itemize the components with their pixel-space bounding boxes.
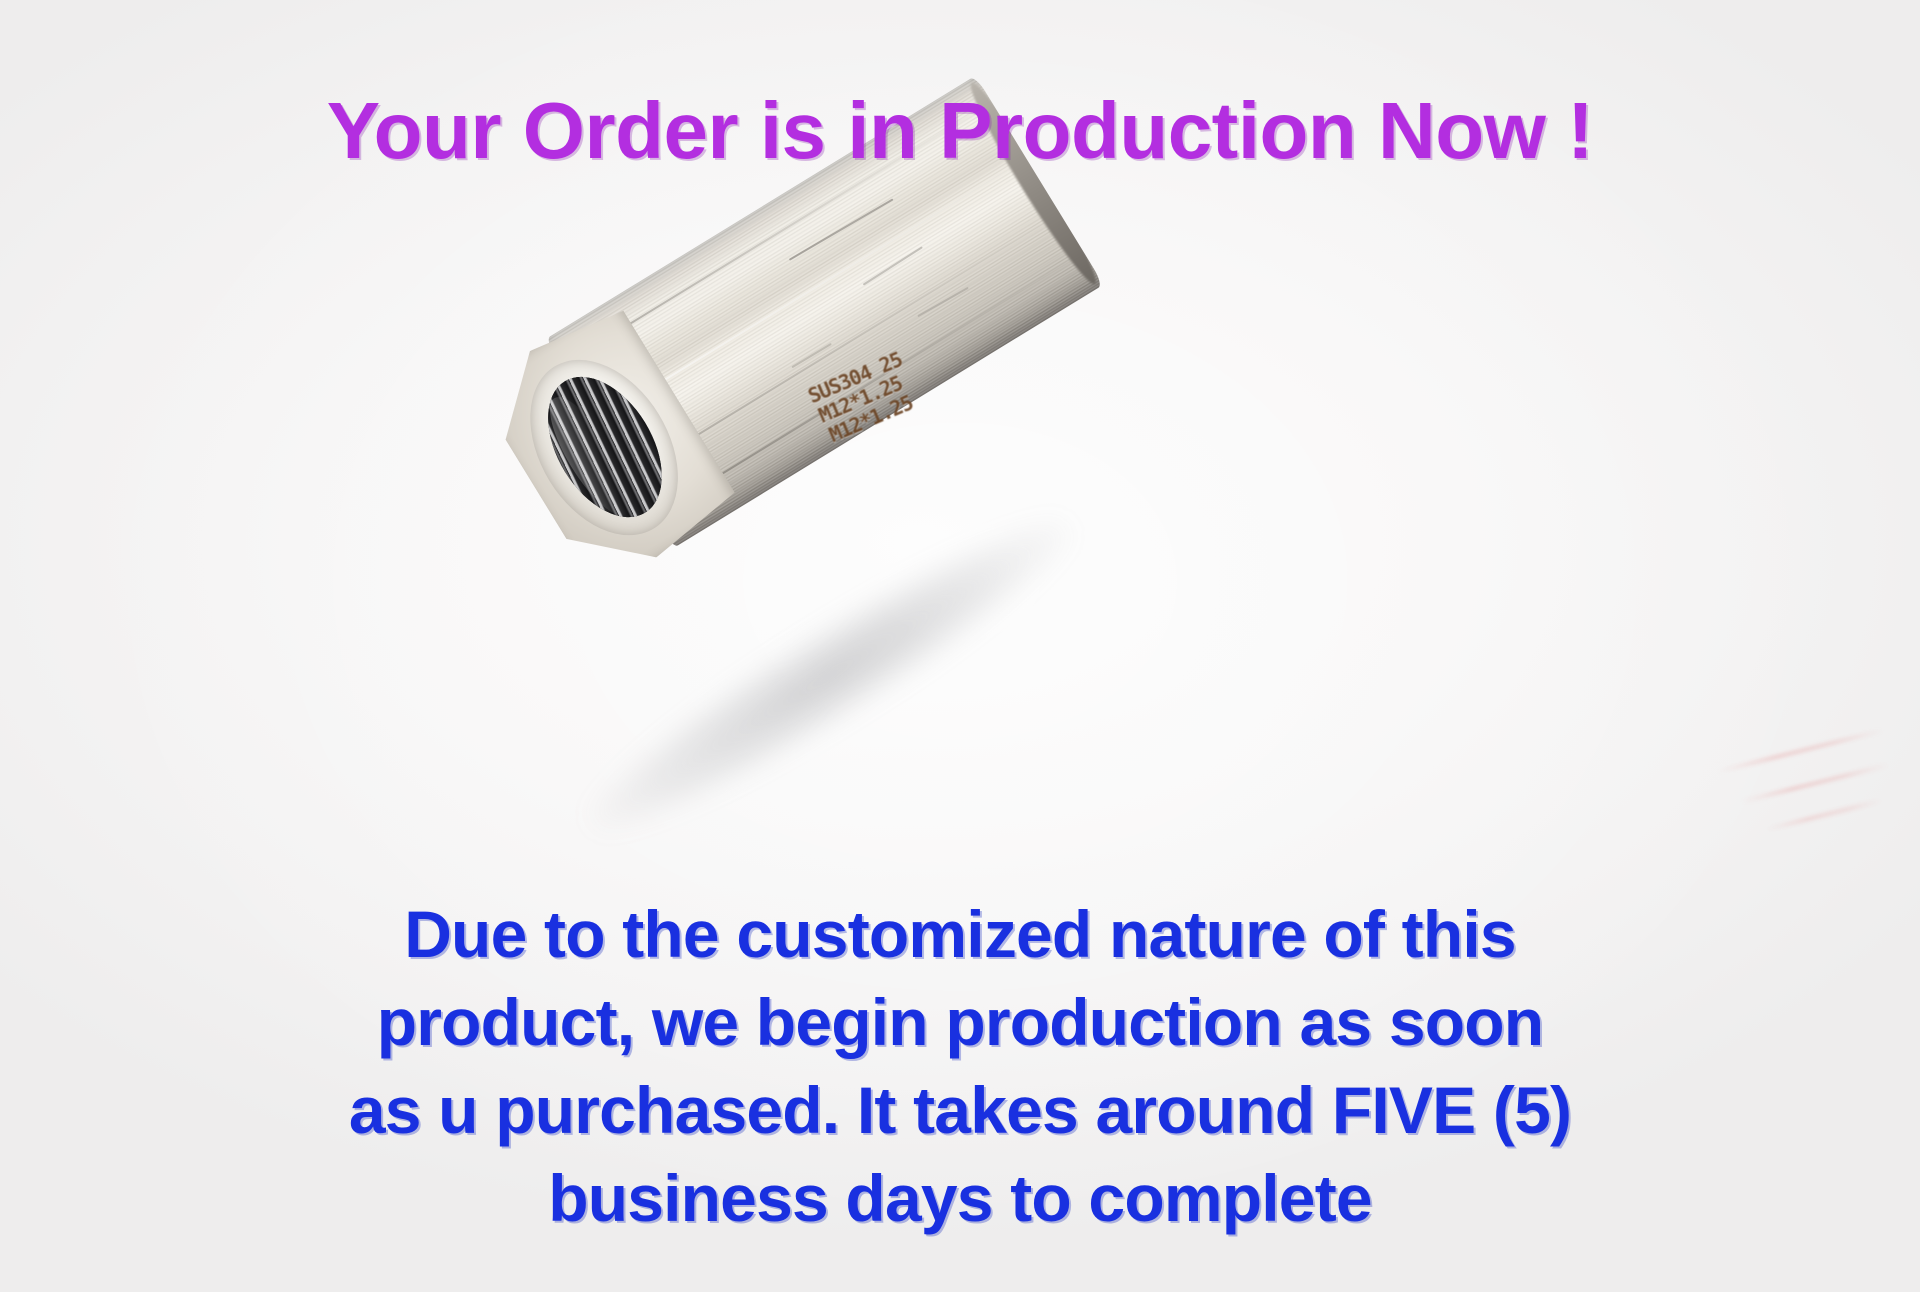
coupling-nut-photo: SUS304 25 M12*1.25 M12*1.25 <box>520 232 1160 732</box>
promo-image-canvas: SUS304 25 M12*1.25 M12*1.25 Your Order i… <box>0 0 1920 1292</box>
body-line-2: product, we begin production as soon <box>0 978 1920 1066</box>
body-line-1: Due to the customized nature of this <box>0 890 1920 978</box>
body-line-4: business days to complete <box>0 1154 1920 1242</box>
headline-text: Your Order is in Production Now ! <box>0 88 1920 174</box>
body-copy-block: Due to the customized nature of this pro… <box>0 890 1920 1242</box>
body-line-3: as u purchased. It takes around FIVE (5) <box>0 1066 1920 1154</box>
